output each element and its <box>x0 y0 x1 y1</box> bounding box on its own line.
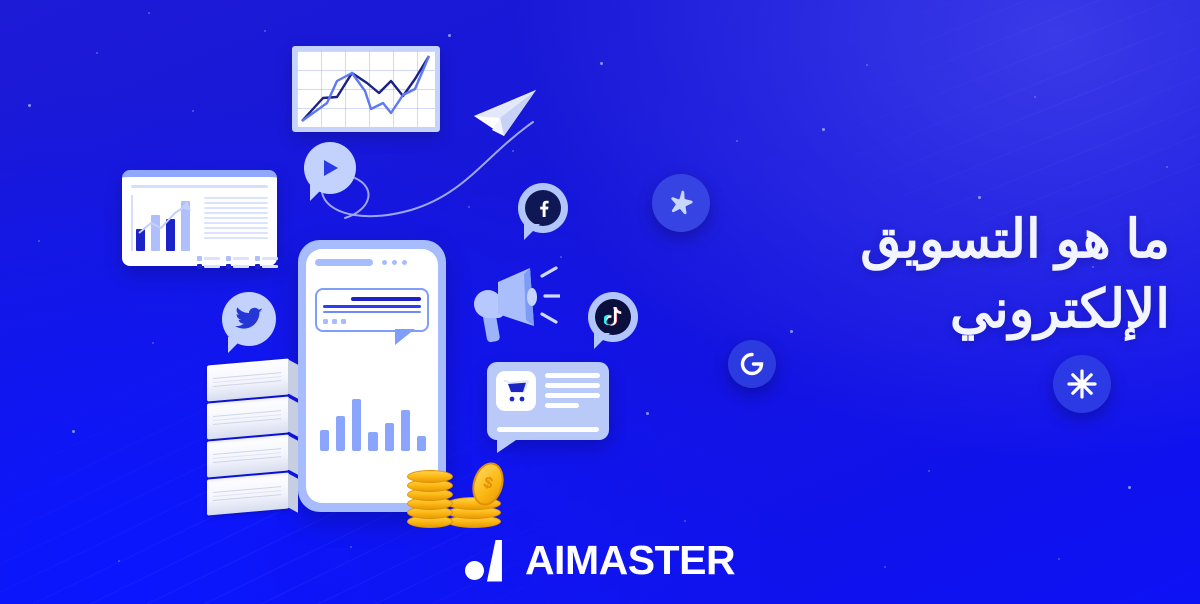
shopping-cart-icon <box>502 378 530 404</box>
star-dot <box>1166 166 1168 168</box>
star-dot <box>72 430 75 433</box>
aimaster-logo-mark-icon <box>465 540 511 582</box>
paper-plane-icon <box>470 88 540 144</box>
star-dot <box>28 104 31 107</box>
star-dot <box>448 34 451 37</box>
asterisk-glyph-icon <box>1065 367 1099 401</box>
star-dot <box>1034 96 1036 98</box>
shopping-cart-card <box>487 362 609 440</box>
star-dot <box>684 520 686 522</box>
dashboard-header-line <box>131 185 268 188</box>
analytics-dashboard-card <box>122 170 277 266</box>
chart-lines-svg <box>297 51 435 127</box>
paper-stack <box>207 358 299 518</box>
brand-name: AIMASTER <box>525 537 735 584</box>
megaphone-icon <box>468 262 560 348</box>
star-dot <box>152 342 154 344</box>
cart-card-text-lines <box>545 371 600 431</box>
star-dot <box>192 110 194 112</box>
play-button-icon[interactable] <box>304 142 356 194</box>
star-dot <box>264 30 266 32</box>
gold-coin-stack: $ <box>403 460 509 528</box>
cart-card-footer-line <box>497 427 599 432</box>
brand-logo[interactable]: AIMASTER <box>0 537 1200 584</box>
dashboard-trend-arrow <box>131 195 195 251</box>
phone-nav-dots <box>382 260 407 265</box>
star-dot <box>978 196 981 199</box>
star-dot <box>822 128 825 131</box>
g-swirl-glyph-icon <box>739 351 765 377</box>
star-dot <box>600 62 603 65</box>
star-dot <box>866 64 868 66</box>
star-dot <box>38 240 40 242</box>
twitter-icon[interactable] <box>222 292 276 346</box>
page-title-line-2: الإلكتروني <box>650 275 1170 345</box>
facebook-icon[interactable] <box>518 183 568 233</box>
phone-top-nav <box>315 259 429 266</box>
twitter-bird-icon <box>235 307 263 331</box>
dashboard-bar-chart <box>131 195 195 251</box>
phone-bar-chart <box>320 395 426 451</box>
star-dot <box>96 52 98 54</box>
page-title-line-1: ما هو التسويق <box>650 205 1170 275</box>
star-dot <box>560 256 562 258</box>
tiktok-note-glyph <box>604 307 623 328</box>
marketing-banner: $ ما هو التسويق الإلكتروني AIMASTER <box>0 0 1200 604</box>
g-swirl-badge-icon[interactable] <box>728 340 776 388</box>
star-dot <box>736 140 738 142</box>
star-dot <box>148 12 150 14</box>
phone-search-pill[interactable] <box>315 259 373 266</box>
dashboard-text-lines <box>204 195 268 251</box>
play-triangle-icon <box>319 157 341 179</box>
facebook-f-glyph <box>534 199 552 217</box>
asterisk-badge-icon[interactable] <box>1053 355 1111 413</box>
star-dot <box>928 470 930 472</box>
star-dot <box>646 412 649 415</box>
star-dot <box>1128 486 1131 489</box>
tiktok-icon[interactable] <box>588 292 638 342</box>
page-title: ما هو التسويق الإلكتروني <box>650 205 1170 345</box>
phone-chat-bubble <box>315 288 429 332</box>
dashboard-legend <box>131 256 268 269</box>
cart-icon-tile <box>496 371 536 411</box>
